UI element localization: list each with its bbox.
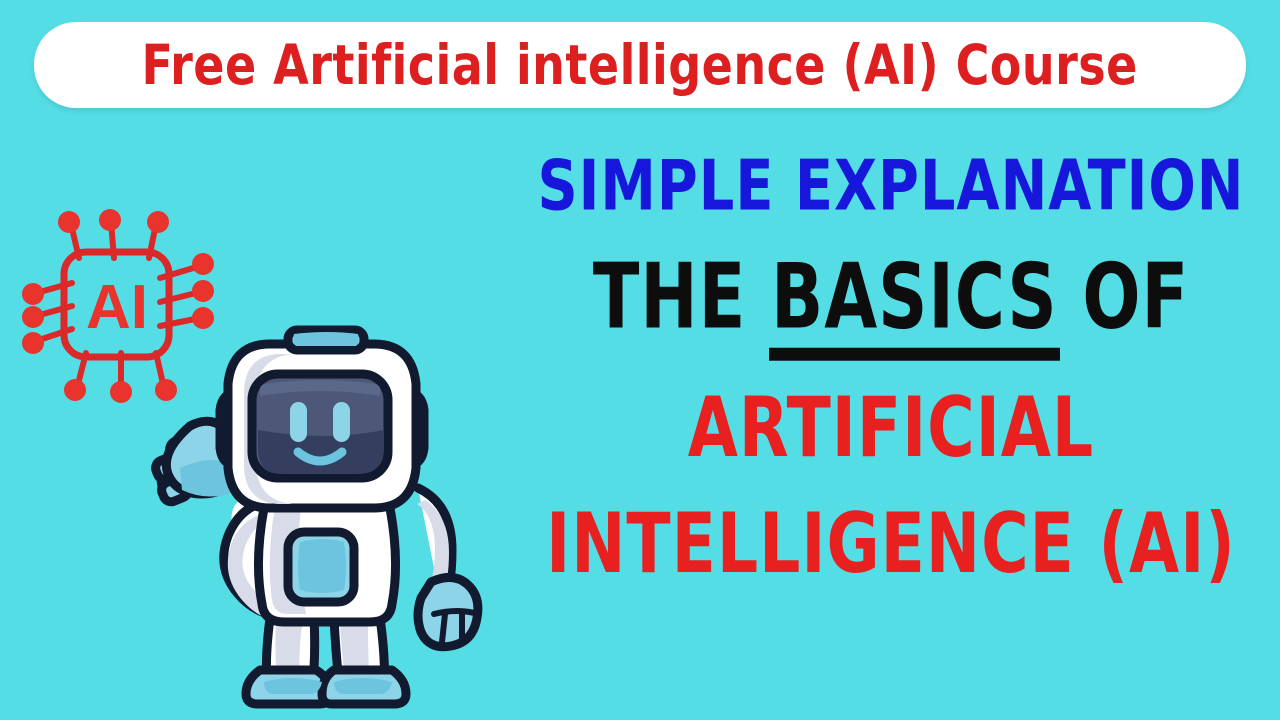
headline-prefix: THE bbox=[593, 244, 771, 349]
title-banner: Free Artificial intelligence (AI) Course bbox=[34, 22, 1246, 108]
headline-stack: SIMPLE EXPLANATION THE BASICS OF ARTIFIC… bbox=[505, 145, 1277, 625]
headline-suffix: OF bbox=[1058, 244, 1190, 349]
page-title: Free Artificial intelligence (AI) Course bbox=[142, 38, 1138, 93]
subtitle-simple-explanation: SIMPLE EXPLANATION bbox=[538, 151, 1245, 220]
headline-artificial: ARTIFICIAL bbox=[688, 386, 1094, 469]
thumbnail-canvas: Free Artificial intelligence (AI) Course bbox=[0, 0, 1280, 720]
robot-mascot bbox=[118, 318, 510, 710]
headline-underlined-basics: BASICS bbox=[771, 252, 1058, 342]
headline-the-basics-of: THE BASICS OF bbox=[593, 252, 1190, 342]
headline-intelligence-ai: INTELLIGENCE (AI) bbox=[546, 502, 1236, 585]
